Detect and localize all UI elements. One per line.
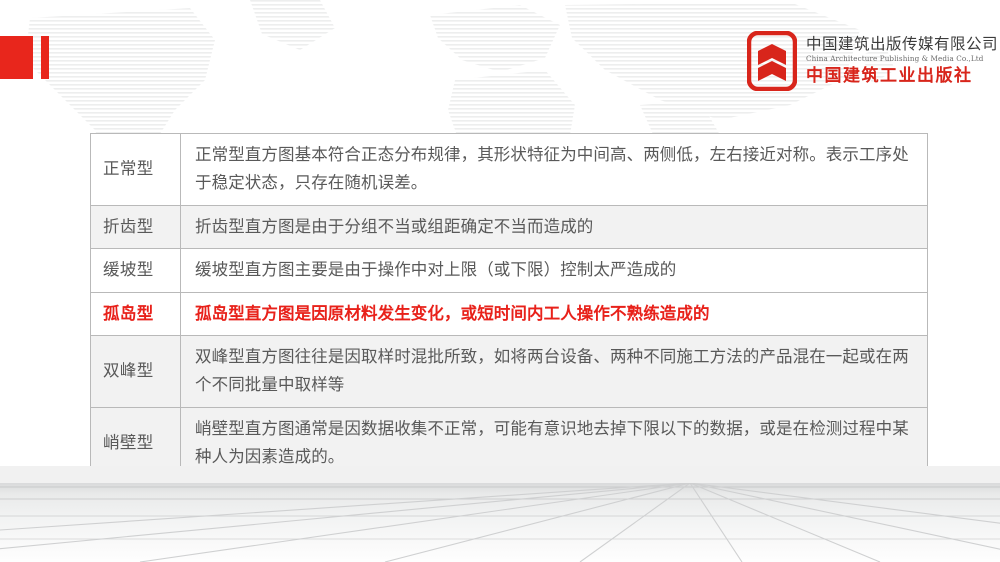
table-row: 正常型 正常型直方图基本符合正态分布规律，其形状特征为中间高、两侧低，左右接近对… (91, 134, 928, 206)
row-description-cell: 折齿型直方图是由于分组不当或组距确定不当而造成的 (181, 205, 928, 248)
perspective-floor (0, 483, 1000, 562)
row-description-cell: 双峰型直方图往往是因取样时混批所致，如将两台设备、两种不同施工方法的产品混在一起… (181, 335, 928, 407)
logo-company-cn: 中国建筑出版传媒有限公司 (806, 36, 998, 54)
publisher-logo: 中国建筑出版传媒有限公司 China Architecture Publishi… (747, 31, 998, 91)
table-row: 缓坡型 缓坡型直方图主要是由于操作中对上限（或下限）控制太严造成的 (91, 249, 928, 292)
slide-canvas: 中国建筑出版传媒有限公司 China Architecture Publishi… (0, 0, 1000, 562)
red-bar-decoration (41, 36, 49, 79)
row-type-cell: 孤岛型 (91, 292, 181, 335)
table-row: 双峰型 双峰型直方图往往是因取样时混批所致，如将两台设备、两种不同施工方法的产品… (91, 335, 928, 407)
table-row: 折齿型 折齿型直方图是由于分组不当或组距确定不当而造成的 (91, 205, 928, 248)
table-row-highlighted: 孤岛型 孤岛型直方图是因原材料发生变化，或短时间内工人操作不熟练造成的 (91, 292, 928, 335)
logo-imprint-cn: 中国建筑工业出版社 (806, 66, 998, 86)
row-type-cell: 折齿型 (91, 205, 181, 248)
histogram-types-table-wrapper: 正常型 正常型直方图基本符合正态分布规律，其形状特征为中间高、两侧低，左右接近对… (90, 133, 928, 479)
row-description-cell: 孤岛型直方图是因原材料发生变化，或短时间内工人操作不熟练造成的 (181, 292, 928, 335)
floor-upper-band (0, 466, 1000, 483)
row-type-cell: 正常型 (91, 134, 181, 206)
row-type-cell: 缓坡型 (91, 249, 181, 292)
row-description-cell: 正常型直方图基本符合正态分布规律，其形状特征为中间高、两侧低，左右接近对称。表示… (181, 134, 928, 206)
table-body: 正常型 正常型直方图基本符合正态分布规律，其形状特征为中间高、两侧低，左右接近对… (91, 134, 928, 479)
histogram-types-table: 正常型 正常型直方图基本符合正态分布规律，其形状特征为中间高、两侧低，左右接近对… (90, 133, 928, 479)
row-description-cell: 缓坡型直方图主要是由于操作中对上限（或下限）控制太严造成的 (181, 249, 928, 292)
row-type-cell: 双峰型 (91, 335, 181, 407)
open-book-icon (747, 31, 797, 91)
logo-company-en: China Architecture Publishing & Media Co… (806, 55, 998, 64)
red-block-decoration (0, 36, 33, 79)
